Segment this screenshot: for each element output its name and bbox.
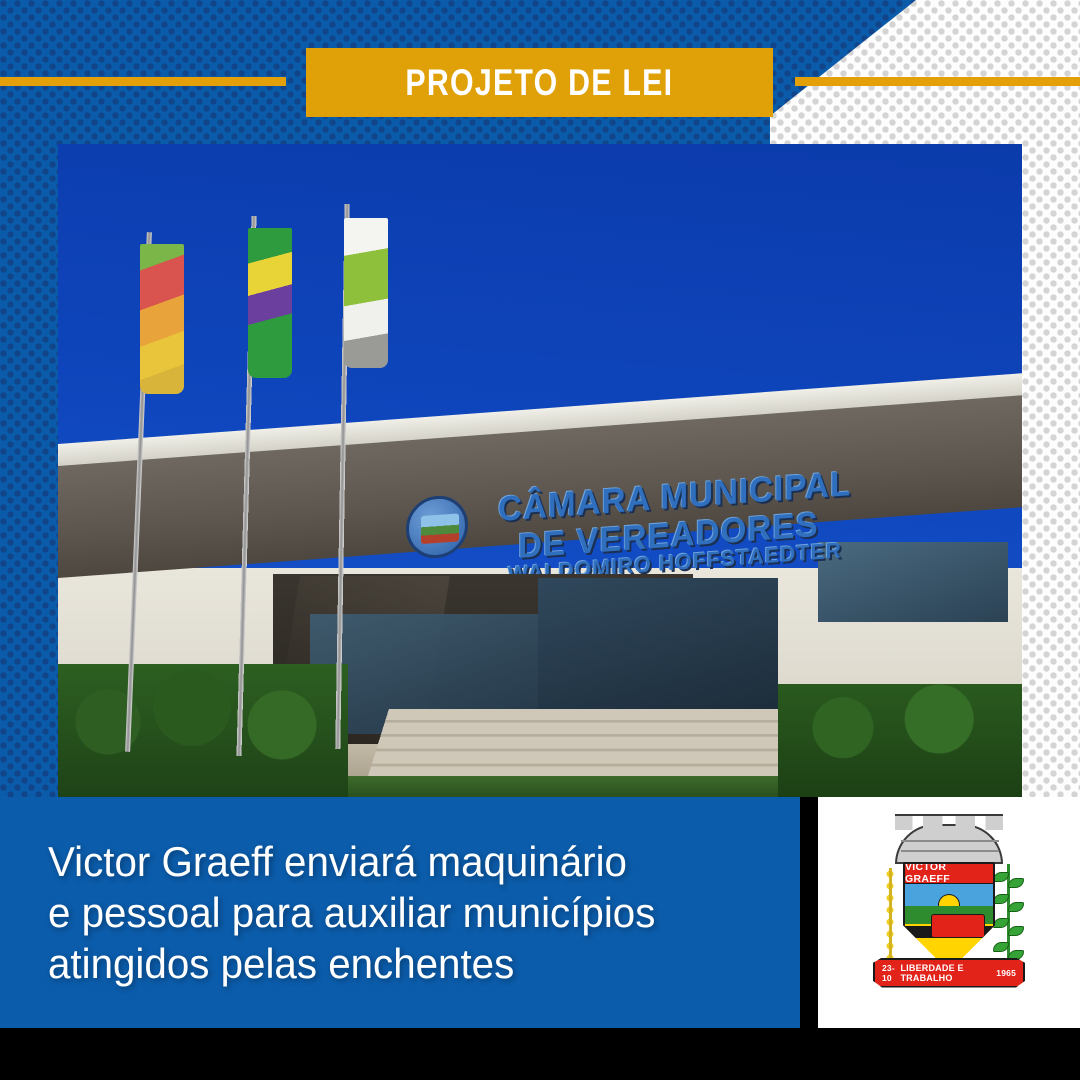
- crest-municipality-name: VICTOR GRAEFF: [905, 864, 993, 884]
- crest-harvester-icon: [931, 914, 985, 938]
- crest-leaf: [993, 942, 1009, 952]
- municipal-logo-card: VICTOR GRAEFF 23-10 LIBERDADE E TRABALHO…: [818, 797, 1080, 1028]
- crest-leaf: [1008, 878, 1024, 888]
- flag-rio-grande-do-sul: [140, 244, 184, 394]
- window-right: [818, 542, 1008, 622]
- coat-of-arms-icon: VICTOR GRAEFF 23-10 LIBERDADE E TRABALHO…: [869, 818, 1029, 1008]
- crest-ribbon-motto: LIBERDADE E TRABALHO: [900, 963, 996, 983]
- poster-canvas: PROJETO DE LEI CÂMARA MUNICIPAL DE VEREA…: [0, 0, 1080, 1080]
- projeto-de-lei-badge: PROJETO DE LEI: [306, 48, 773, 117]
- crest-leaf: [993, 894, 1009, 904]
- crest-crown: [895, 824, 1003, 864]
- crest-leaf: [993, 872, 1009, 882]
- crest-leaf: [993, 918, 1009, 928]
- crest-ribbon-year: 1965: [996, 968, 1016, 978]
- headline-text: Victor Graeff enviará maquinário e pesso…: [0, 836, 694, 990]
- building-photo: CÂMARA MUNICIPAL DE VEREADORES WALDOMIRO…: [58, 144, 1022, 804]
- crest-leaf: [1008, 902, 1024, 912]
- crest-ribbon-date: 23-10: [882, 963, 900, 983]
- gold-rule-left: [0, 77, 286, 86]
- bottom-black-bar: [0, 1028, 1080, 1080]
- flag-victor-graeff: [344, 218, 388, 368]
- headline-line-2: e pessoal para auxiliar municípios: [48, 887, 655, 938]
- headline-panel: Victor Graeff enviará maquinário e pesso…: [0, 797, 800, 1028]
- entrance-doors: [538, 578, 778, 718]
- crest-shield: VICTOR GRAEFF: [903, 862, 995, 972]
- gold-rule-right: [795, 77, 1080, 86]
- panel-gap: [800, 797, 818, 1028]
- hedge-right: [778, 684, 1022, 804]
- crest-leaf: [1008, 926, 1024, 936]
- badge-label: PROJETO DE LEI: [406, 62, 674, 104]
- hedge-left: [58, 664, 348, 804]
- headline-line-1: Victor Graeff enviará maquinário: [48, 836, 655, 887]
- crest-ribbon: 23-10 LIBERDADE E TRABALHO 1965: [873, 958, 1025, 988]
- flag-brasil: [248, 228, 292, 378]
- headline-line-3: atingidos pelas enchentes: [48, 938, 655, 989]
